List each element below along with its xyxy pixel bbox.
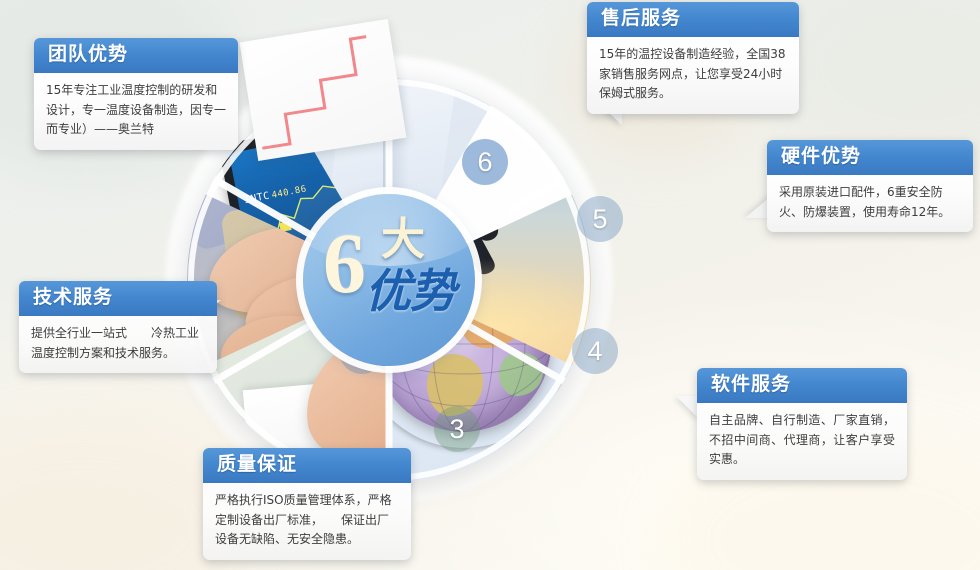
card-after-sales-title: 售后服务 [587, 2, 799, 37]
card-quality-body: 严格执行ISO质量管理体系，严格定制设备出厂标准， 保证出厂设备无缺陷、无安全隐… [203, 483, 411, 560]
card-software[interactable]: 软件服务 自主品牌、自行制造、厂家直销，不招中间商、代理商，让客户享受实惠。 [697, 368, 907, 480]
center-badge-inner: 6 大 优势 [303, 194, 475, 366]
card-technical-body: 提供全行业一站式 冷热工业温度控制方案和技术服务。 [19, 316, 217, 374]
card-team-body: 15年专注工业温度控制的研发和设计，专一温度设备制造，因专一而专业）——奥兰特 [34, 73, 238, 150]
card-software-body: 自主品牌、自行制造、厂家直销，不招中间商、代理商，让客户享受实惠。 [697, 403, 907, 480]
center-word-youshi: 优势 [365, 268, 455, 314]
card-hardware[interactable]: 硬件优势 采用原装进口配件，6重安全防火、防爆装置，使用寿命12年。 [767, 140, 973, 232]
card-technical[interactable]: 技术服务 提供全行业一站式 冷热工业温度控制方案和技术服务。 [19, 281, 217, 373]
infographic-canvas: STOCK MARKET DATA INTC 440.86 [0, 0, 980, 570]
card-team[interactable]: 团队优势 15年专注工业温度控制的研发和设计，专一温度设备制造，因专一而专业）—… [34, 38, 238, 150]
card-hardware-body: 采用原装进口配件，6重安全防火、防爆装置，使用寿命12年。 [767, 175, 973, 233]
center-number-six: 6 [323, 224, 366, 303]
card-technical-title: 技术服务 [19, 281, 217, 316]
paper-red-chart [240, 19, 407, 161]
card-software-title: 软件服务 [697, 368, 907, 403]
segment-number-6[interactable]: 6 [462, 139, 508, 185]
card-hardware-title: 硬件优势 [767, 140, 973, 175]
segment-number-3[interactable]: 3 [434, 406, 480, 452]
card-quality-title: 质量保证 [203, 448, 411, 483]
segment-number-4[interactable]: 4 [572, 328, 618, 374]
center-badge[interactable]: 6 大 优势 [303, 194, 475, 366]
card-team-title: 团队优势 [34, 38, 238, 73]
center-char-da: 大 [381, 218, 425, 262]
card-after-sales-body: 15年的温控设备制造经验，全国38家销售服务网点，让您享受24小时保姆式服务。 [587, 37, 799, 114]
segment-number-5[interactable]: 5 [577, 196, 623, 242]
card-quality[interactable]: 质量保证 严格执行ISO质量管理体系，严格定制设备出厂标准， 保证出厂设备无缺陷… [203, 448, 411, 560]
card-after-sales[interactable]: 售后服务 15年的温控设备制造经验，全国38家销售服务网点，让您享受24小时保姆… [587, 2, 799, 114]
red-line-chart-icon [240, 19, 407, 161]
